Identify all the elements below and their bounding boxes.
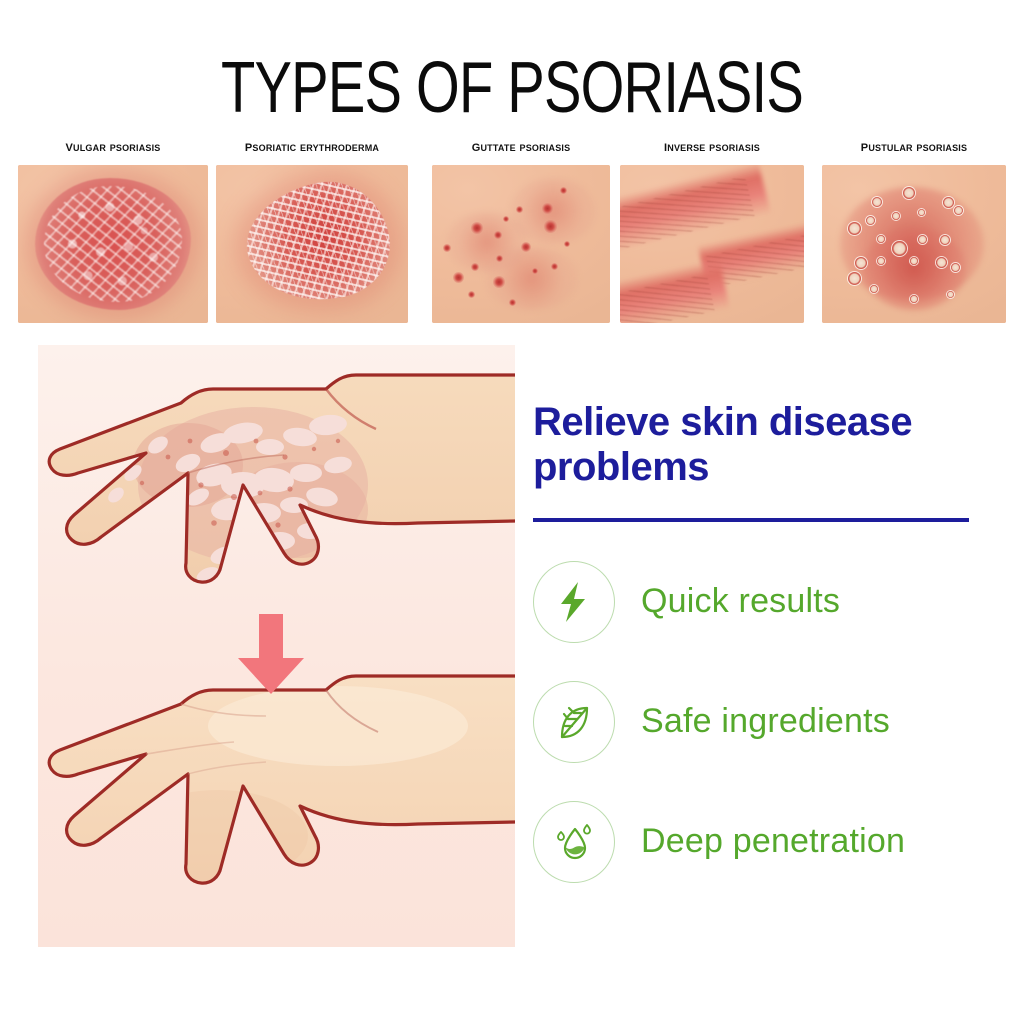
page-title: TYPES OF PSORIASIS [113,52,912,124]
feature-list: Quick results [533,562,993,882]
skin-lesion-droplet-spots-icon [432,165,610,323]
down-arrow-icon [236,614,306,694]
promo-column: Relieve skin disease problems Quick resu… [533,400,993,922]
hand-before-psoriasis [38,345,515,646]
type-card-pustular-psoriasis[interactable]: Pustular psoriasis [822,140,1006,323]
feature-label: Quick results [641,582,840,621]
psoriasis-types-strip: Vulgar psoriasis Psoriatic erythroderma … [0,140,1024,330]
type-label: Vulgar psoriasis [18,140,208,158]
water-droplet-icon [533,801,615,883]
leaf-icon [533,681,615,763]
promo-divider [533,518,969,522]
feature-item-safe-ingredients[interactable]: Safe ingredients [533,682,993,762]
skin-lesion-plaque-icon [18,165,208,323]
skin-fold-redness-icon [620,165,804,323]
type-card-inverse-psoriasis[interactable]: Inverse psoriasis [620,140,804,323]
feature-label: Deep penetration [641,822,905,861]
lightning-bolt-icon [533,561,615,643]
type-card-psoriatic-erythroderma[interactable]: Psoriatic erythroderma [216,140,408,323]
feature-label: Safe ingredients [641,702,890,741]
feature-item-deep-penetration[interactable]: Deep penetration [533,802,993,882]
feature-item-quick-results[interactable]: Quick results [533,562,993,642]
type-label: Psoriatic erythroderma [216,140,408,158]
type-card-guttate-psoriasis[interactable]: Guttate psoriasis [432,140,610,323]
promo-headline: Relieve skin disease problems [533,400,993,490]
skin-lesion-scaly-icon [216,165,408,323]
skin-lesion-pustules-icon [822,165,1006,323]
type-label: Pustular psoriasis [822,140,1006,158]
poster-root: TYPES OF PSORIASIS Vulgar psoriasis Psor… [0,0,1024,1024]
type-card-vulgar-psoriasis[interactable]: Vulgar psoriasis [18,140,208,323]
type-label: Guttate psoriasis [432,140,610,158]
type-label: Inverse psoriasis [620,140,804,158]
